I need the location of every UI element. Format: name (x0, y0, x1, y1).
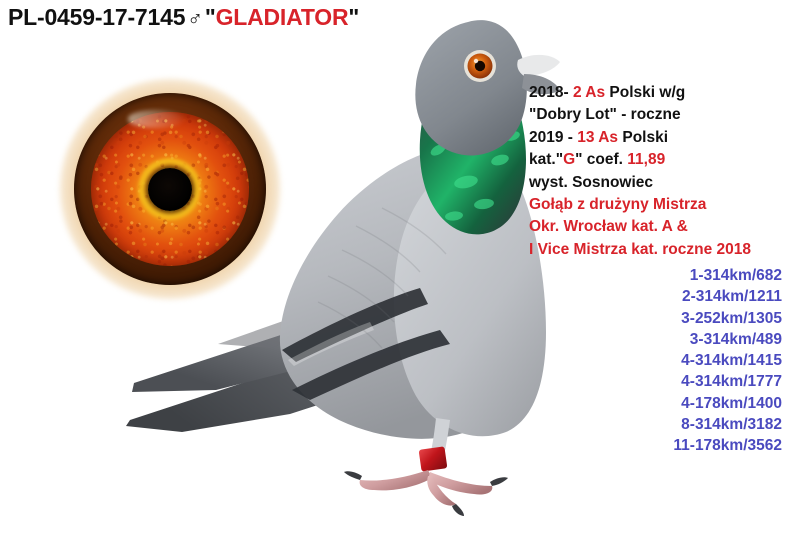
race-result-line: 4-178km/1400 (540, 393, 782, 414)
achievement-text-run: kat." (529, 151, 563, 168)
race-results-list: 1-314km/6822-314km/12113-252km/13053-314… (540, 265, 790, 457)
achievement-text-run: " coef. (575, 151, 627, 168)
achievement-text-run: 11,89 (627, 151, 665, 168)
achievement-text-run: "Dobry Lot" - roczne (529, 106, 681, 123)
race-result-line: 2-314km/1211 (540, 286, 782, 307)
achievement-text-run: Polski w/g (605, 84, 685, 101)
pigeon-leg-ring (419, 446, 448, 471)
achievement-text-run: I Vice Mistrza kat. roczne 2018 (529, 241, 751, 258)
achievement-text-run: wyst. Sosnowiec (529, 174, 653, 191)
race-result-line: 4-314km/1415 (540, 350, 782, 371)
pigeon-eye-glint (474, 59, 478, 63)
achievement-line: Okr. Wrocław kat. A & (529, 216, 797, 238)
race-result-line: 3-252km/1305 (540, 308, 782, 329)
race-result-line: 11-178km/3562 (540, 435, 782, 456)
achievement-line: Gołąb z drużyny Mistrza (529, 194, 797, 216)
achievement-line: 2018- 2 As Polski w/g (529, 82, 797, 104)
achievement-text-run: Polski (618, 129, 668, 146)
achievement-text-run: Gołąb z drużyny Mistrza (529, 196, 706, 213)
race-result-line: 1-314km/682 (540, 265, 782, 286)
achievement-text-run: 2019 - (529, 129, 577, 146)
achievement-line: I Vice Mistrza kat. roczne 2018 (529, 239, 797, 261)
achievement-line: 2019 - 13 As Polski (529, 127, 797, 149)
achievement-text-run: 2018- (529, 84, 573, 101)
achievement-line: kat."G" coef. 11,89 (529, 149, 797, 171)
achievements-block: 2018- 2 As Polski w/g"Dobry Lot" - roczn… (529, 82, 797, 261)
pigeon-foot (344, 470, 508, 516)
race-result-line: 4-314km/1777 (540, 371, 782, 392)
achievement-text-run: Okr. Wrocław kat. A & (529, 218, 688, 235)
achievement-text-run: G (563, 151, 575, 168)
achievement-line: wyst. Sosnowiec (529, 172, 797, 194)
achievement-line: "Dobry Lot" - roczne (529, 104, 797, 126)
pigeon-head (415, 20, 527, 155)
pigeon-cere (517, 55, 560, 76)
pigeon-photo (120, 0, 560, 533)
pedigree-card: PL-0459-17-7145♂"GLADIATOR" (0, 0, 800, 533)
achievement-text-run: 13 As (577, 129, 618, 146)
race-result-line: 8-314km/3182 (540, 414, 782, 435)
race-result-line: 3-314km/489 (540, 329, 782, 350)
achievement-text-run: 2 As (573, 84, 605, 101)
